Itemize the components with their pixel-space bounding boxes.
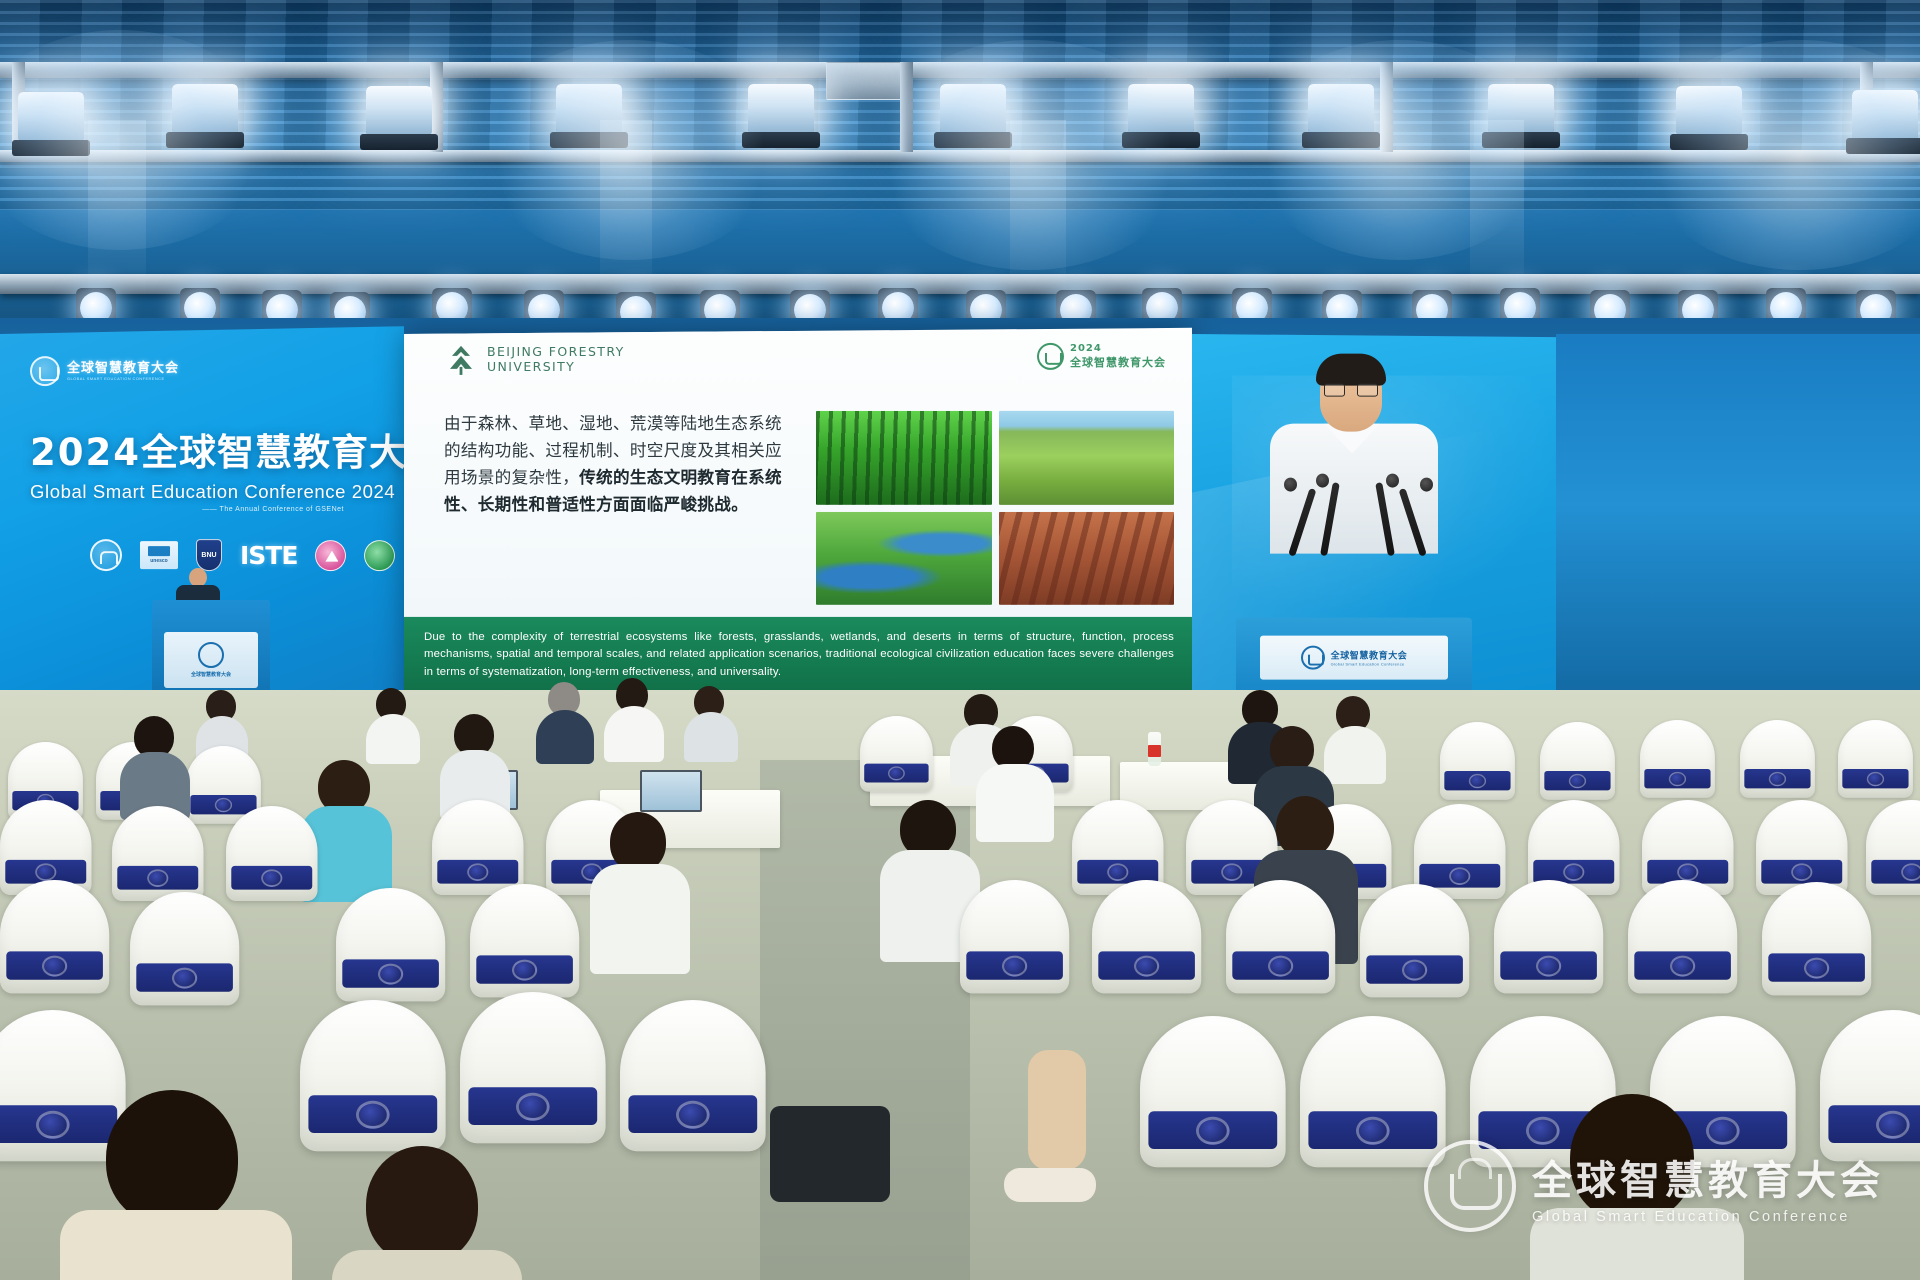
conference-seal-icon	[1037, 343, 1064, 370]
stage-wall-right	[1556, 334, 1920, 712]
watermark-seal-icon	[1424, 1140, 1516, 1232]
watermark: 全球智慧教育大会 Global Smart Education Conferen…	[1424, 1140, 1884, 1232]
chair	[620, 1000, 766, 1179]
photo-desert	[999, 511, 1175, 605]
sponsor-green-emblem-icon	[364, 539, 395, 571]
conference-hall-photo: 全球智慧教育大会 GLOBAL SMART EDUCATION CONFEREN…	[0, 0, 1920, 1280]
sponsor-unesco-label: unesco	[150, 558, 168, 564]
slide-mark-cn: 全球智慧教育大会	[1070, 354, 1166, 370]
sponsor-university-shield-icon: BNU	[196, 539, 222, 571]
chair	[1092, 880, 1201, 1014]
truss-beam-mid	[0, 150, 1920, 162]
banner-sponsor-row: unesco BNU ISTE	[30, 539, 374, 571]
chair	[1494, 880, 1603, 1014]
photo-forest	[816, 411, 992, 505]
par-can-light	[748, 84, 814, 134]
speaker-hair	[1316, 354, 1386, 386]
banner-subtitle-en: Global Smart Education Conference 2024	[30, 481, 374, 503]
chair	[460, 992, 606, 1171]
chair	[1762, 882, 1871, 1016]
audience-shoe	[1004, 1168, 1096, 1202]
slide-english-translation: Due to the complexity of terrestrial eco…	[424, 629, 1174, 681]
institution-name-line2: UNIVERSITY	[487, 360, 625, 375]
beijing-forestry-university-tree-icon	[444, 343, 478, 377]
microphone-head-icon	[1284, 478, 1297, 492]
chair	[1838, 720, 1913, 812]
sponsor-shield-label: BNU	[201, 552, 216, 559]
banner-logo: 全球智慧教育大会 GLOBAL SMART EDUCATION CONFEREN…	[30, 356, 374, 386]
podium-seal-icon	[198, 642, 224, 668]
par-can-light	[1128, 84, 1194, 134]
presentation-screen: BEIJING FORESTRY UNIVERSITY 2024 全球智慧教育大…	[404, 328, 1192, 712]
conference-seal-icon	[30, 356, 60, 386]
chair	[1360, 884, 1469, 1018]
photo-grassland	[999, 411, 1175, 505]
banner-logo-text: 全球智慧教育大会	[67, 361, 179, 375]
speaker-video-feed: 全球智慧教育大会 Global Smart Education Conferen…	[1192, 334, 1556, 715]
banner-logo-subtext: GLOBAL SMART EDUCATION CONFERENCE	[67, 376, 179, 381]
photo-wetland	[816, 511, 992, 605]
microphone-head-icon	[1386, 474, 1399, 488]
sponsor-iste-icon: ISTE	[240, 539, 297, 571]
par-can-light	[172, 84, 238, 134]
chair	[1140, 1016, 1286, 1195]
banner-title: 2024全球智慧教育大会	[30, 422, 374, 476]
chair	[1740, 720, 1815, 812]
chair	[130, 892, 239, 1026]
truss-post	[1380, 62, 1393, 152]
institution-name: BEIJING FORESTRY UNIVERSITY	[487, 345, 625, 375]
banner-title-cn: 全球智慧教育大会	[141, 432, 404, 473]
microphone-head-icon	[1316, 474, 1329, 488]
speaker-glasses-icon	[1324, 384, 1378, 397]
par-can-light	[366, 86, 432, 136]
par-can-light	[1676, 86, 1742, 136]
slide-conference-mark: 2024 全球智慧教育大会	[1037, 343, 1166, 370]
par-can-light	[1852, 90, 1918, 140]
water-bottle	[1148, 732, 1161, 766]
institution-logo: BEIJING FORESTRY UNIVERSITY	[444, 343, 625, 377]
chair	[860, 716, 933, 806]
podium-sign-text: 全球智慧教育大会	[191, 671, 231, 678]
par-can-light	[1488, 84, 1554, 134]
par-can-light	[940, 84, 1006, 134]
audience-leg	[1028, 1050, 1086, 1170]
chair	[226, 806, 318, 919]
slide-photo-grid	[816, 411, 1174, 605]
watermark-title-en: Global Smart Education Conference	[1532, 1209, 1884, 1225]
par-can-light	[18, 92, 84, 142]
chair	[1226, 880, 1335, 1014]
banner-subtitle-note: —— The Annual Conference of GSENet	[30, 506, 374, 513]
podium-sign-en: Global Smart Education Conference	[1331, 662, 1408, 667]
slide-mark-year: 2024	[1070, 343, 1166, 354]
watermark-title-cn: 全球智慧教育大会	[1532, 1148, 1884, 1206]
chair	[1640, 720, 1715, 812]
chair	[0, 880, 109, 1014]
chair	[960, 880, 1069, 1014]
truss-beam-upper	[0, 62, 1920, 78]
banner-title-year: 2024	[30, 431, 141, 474]
podium-sign: 全球智慧教育大会 Global Smart Education Conferen…	[1260, 636, 1448, 680]
sponsor-iste-label: ISTE	[240, 541, 297, 570]
sponsor-unesco-icon: unesco	[140, 539, 178, 571]
truss-post	[900, 62, 913, 152]
par-can-light	[556, 84, 622, 134]
institution-name-line1: BEIJING FORESTRY	[487, 345, 625, 360]
slide-body-chinese: 由于森林、草地、湿地、荒漠等陆地生态系统的结构功能、过程机制、时空尺度及其相关应…	[444, 411, 794, 519]
par-can-light	[1308, 84, 1374, 134]
chair	[1866, 800, 1920, 913]
sponsor-smart-education-seal-icon	[90, 539, 122, 571]
floor-bag	[770, 1106, 890, 1202]
podium-seal-icon	[1301, 646, 1325, 670]
podium-sign-cn: 全球智慧教育大会	[1331, 649, 1408, 662]
chair	[1628, 880, 1737, 1014]
microphone-head-icon	[1420, 478, 1433, 492]
sponsor-pink-emblem-icon	[315, 539, 346, 571]
chair	[1440, 722, 1515, 814]
